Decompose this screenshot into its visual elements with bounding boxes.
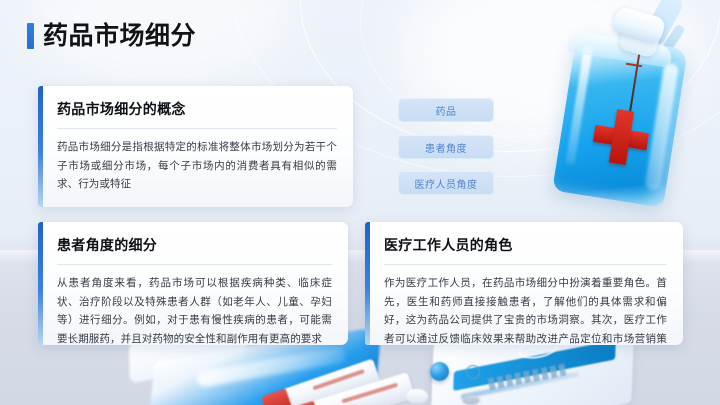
card-divider (57, 128, 337, 129)
iv-bag-illustration (560, 0, 720, 232)
pill-label-patient-perspective[interactable]: 患者角度 (398, 135, 494, 159)
pill-label-drug[interactable]: 药品 (398, 98, 494, 122)
gray-pill-icon (462, 395, 480, 405)
card-concept-body: 药品市场细分是指根据特定的标准将整体市场划分为若干个子市场或细分市场，每个子市场… (57, 138, 337, 194)
white-pill-icon (406, 389, 428, 403)
title-accent-bar (27, 23, 34, 49)
page-title-text: 药品市场细分 (43, 24, 196, 49)
card-concept-heading: 药品市场细分的概念 (57, 99, 337, 119)
card-patient[interactable]: 患者角度的细分 从患者角度来看，药品市场可以根据疾病种类、临床症状、治疗阶段以及… (38, 222, 348, 345)
card-staff-heading: 医疗工作人员的角色 (384, 235, 667, 255)
slide-root: 药品市场细分 药品市场细分的概念 药品市场细分是指根据特定的标准将整体市场划分为… (0, 0, 720, 405)
card-patient-heading: 患者角度的细分 (57, 235, 332, 255)
card-accent-bar (38, 222, 43, 345)
card-accent-bar (365, 222, 370, 345)
card-divider (57, 264, 332, 265)
pill-label-medical-staff-perspective[interactable]: 医疗人员角度 (398, 171, 494, 195)
red-cross-icon (590, 106, 652, 168)
page-title: 药品市场细分 (27, 23, 196, 49)
card-staff-body: 作为医疗工作人员，在药品市场细分中扮演着重要角色。首先，医生和药师直接接触患者，… (384, 274, 667, 345)
card-staff[interactable]: 医疗工作人员的角色 作为医疗工作人员，在药品市场细分中扮演着重要角色。首先，医生… (365, 222, 683, 345)
blue-pill-icon (430, 362, 449, 381)
card-divider (384, 264, 667, 265)
card-patient-body: 从患者角度来看，药品市场可以根据疾病种类、临床症状、治疗阶段以及特殊患者人群（如… (57, 274, 332, 345)
card-concept[interactable]: 药品市场细分的概念 药品市场细分是指根据特定的标准将整体市场划分为若干个子市场或… (38, 86, 353, 207)
card-accent-bar (38, 86, 43, 207)
